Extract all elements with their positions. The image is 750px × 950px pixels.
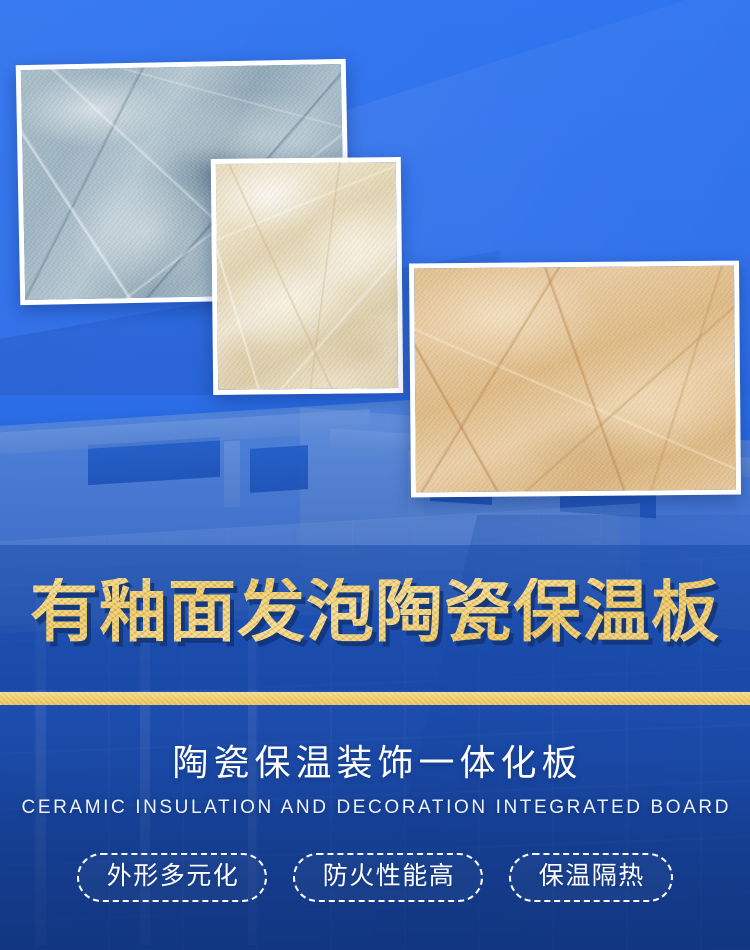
feature-badge-shape-diversity: 外形多元化 [77, 853, 267, 902]
feature-badge-row: 外形多元化 防火性能高 保温隔热 [0, 853, 750, 902]
product-promo-banner: 有釉面发泡陶瓷保温板 有釉面发泡陶瓷保温板 陶瓷保温装饰一体化板 CERAMIC… [0, 0, 750, 950]
texture-grain [216, 162, 398, 390]
feature-badge-fire-resistance: 防火性能高 [293, 853, 483, 902]
main-title: 有釉面发泡陶瓷保温板 [0, 578, 750, 646]
sub-title-english: CERAMIC INSULATION AND DECORATION INTEGR… [0, 797, 750, 820]
texture-grain [414, 266, 736, 493]
texture-golden-tan-marble [414, 266, 736, 493]
texture-cream-travertine [216, 162, 398, 390]
sample-panel-cream-travertine [211, 157, 403, 395]
gold-divider-rule [0, 692, 750, 705]
sample-panel-golden-tan-marble [409, 261, 741, 498]
feature-badge-thermal-insulation: 保温隔热 [509, 853, 673, 902]
sub-title: 陶瓷保温装饰一体化板 [0, 742, 750, 783]
